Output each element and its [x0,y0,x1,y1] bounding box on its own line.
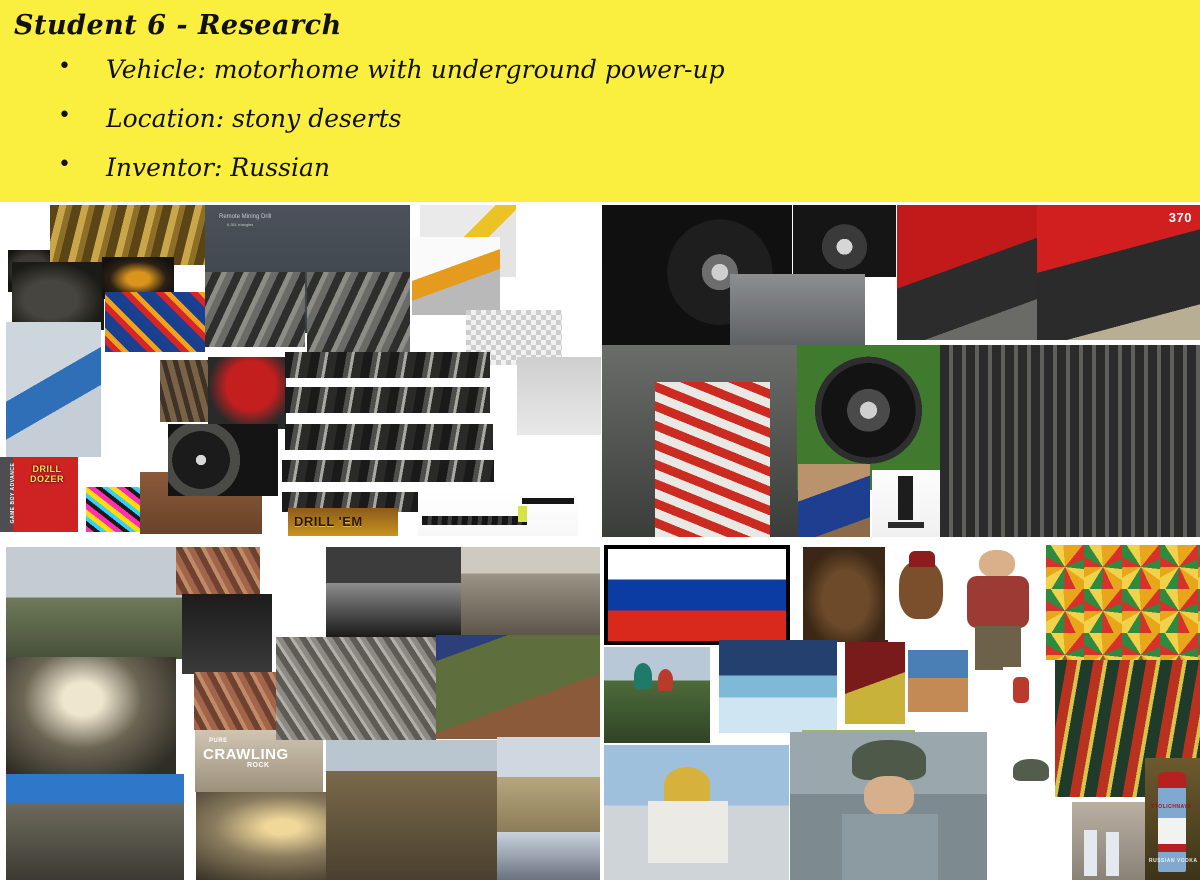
collage-image-red-alert-soviet-officer [845,642,905,724]
collage-image-cliff-architecture [6,547,184,659]
collage-image-matryoshka-dolls [1046,545,1200,660]
collage-image-dusty-trail [497,737,600,832]
bullet-vehicle: Vehicle: motorhome with underground powe… [14,56,1200,85]
collage-image-japanese-drill-game-art [105,292,205,352]
collage-image-quadtrac-370: 370 [1037,205,1200,340]
collage-image-bw-mountain-switchback [276,637,436,740]
collage-image-drill-vehicle-rear [307,272,410,357]
vodka-brand-label: STOLICHNAYA [1151,804,1192,810]
collage-image-blue-crane-grabber [6,322,101,457]
bus-number-label: 274 [604,241,641,265]
collage-image-blue-jack-stand [798,464,870,537]
mining-drill-caption-title: Remote Mining Drill [219,213,271,222]
collage-image-russian-flag [604,545,790,645]
bullet-location: Location: stony deserts [14,105,1200,134]
collage-image-green-mountain-switchback [436,635,600,739]
collage-image-cartoon-bear-soldier [885,545,957,640]
mood-board-collage: GAME BOY ADVANCE DRILL DOZER Remote Mini… [0,202,1200,880]
collage-image-ushanka-hats [1007,747,1055,795]
collage-image-st-basils-cathedral [604,647,710,743]
slide-page: Student 6 - Research Vehicle: motorhome … [0,0,1200,880]
collage-image-ice-auger-tool [418,492,578,536]
collage-image-bw-desert-road [326,547,461,637]
collage-image-auger-bit-3 [285,424,493,450]
mining-drill-caption-sub: 6,351 triangles [227,222,253,228]
collage-image-soviet-officer-coat [790,732,987,880]
gba-spine-label: GAME BOY ADVANCE [10,458,16,528]
collage-image-golden-drill [50,205,210,265]
pure-crawling-pre-label: PURE [209,738,228,744]
collage-image-truck-wheel-white [793,205,896,277]
collage-image-striped-support-legs [655,382,770,537]
collage-image-dark-rock-formation [182,594,272,674]
collage-image-red-rock-texture [194,672,279,730]
collage-image-auger-bit-4 [282,460,494,482]
collage-image-auger-bit-2 [285,387,490,413]
pure-crawling-sub-label: ROCK [247,762,270,769]
collage-image-christ-the-saviour-cathedral [604,745,789,880]
collage-image-stolichnaya-bottle: STOLICHNAYA RUSSIAN VODKA [1145,758,1200,880]
vodka-sub-label: RUSSIAN VODKA [1149,858,1197,864]
collage-image-rhino-beetle [12,262,104,330]
collage-image-zangief-art [908,650,968,712]
collage-image-rock-crawler-on-boulder [176,547,260,595]
header-banner: Student 6 - Research Vehicle: motorhome … [0,0,1200,202]
collage-image-orange-auger-machine [412,237,500,315]
bullet-inventor: Inventor: Russian [14,154,1200,183]
collage-image-ice-floe-blue [719,640,837,733]
collage-image-red-tractor-tracks [897,205,1037,340]
collage-image-misty-canyon [6,657,176,777]
collage-image-drill-em-logo: DRILL 'EM [288,508,398,536]
collage-image-small-soldier-figure [1003,667,1039,713]
collage-image-yellow-drill-tank-render [517,357,601,435]
drill-dozer-cover-label: DRILL DOZER [18,464,76,484]
drill-em-logo-label: DRILL 'EM [294,514,363,529]
collage-image-auger-bit-1 [285,352,490,378]
collage-image-drill-vehicle-front [205,272,305,347]
collage-image-brown-bear [803,547,888,642]
collage-image-misty-peaks [497,832,600,880]
collage-image-bulldozer-track [940,345,1200,537]
bullet-list: Vehicle: motorhome with underground powe… [14,56,1200,182]
collage-image-rocky-scree-slope [6,774,184,880]
collage-image-vodka-seller [1072,802,1150,880]
page-title: Student 6 - Research [14,10,1200,42]
collage-image-red-tracked-machine [208,357,286,429]
pure-crawling-main-label: CRAWLING [203,746,289,763]
collage-image-black-trailer-jack [872,470,940,537]
tractor-model-label: 370 [1169,210,1192,225]
collage-image-gravel-road-works [461,547,600,635]
collage-image-rubber-track-drive [168,424,278,496]
collage-image-tf2-heavy [955,542,1043,674]
collage-image-dry-hillside-track [326,740,500,880]
